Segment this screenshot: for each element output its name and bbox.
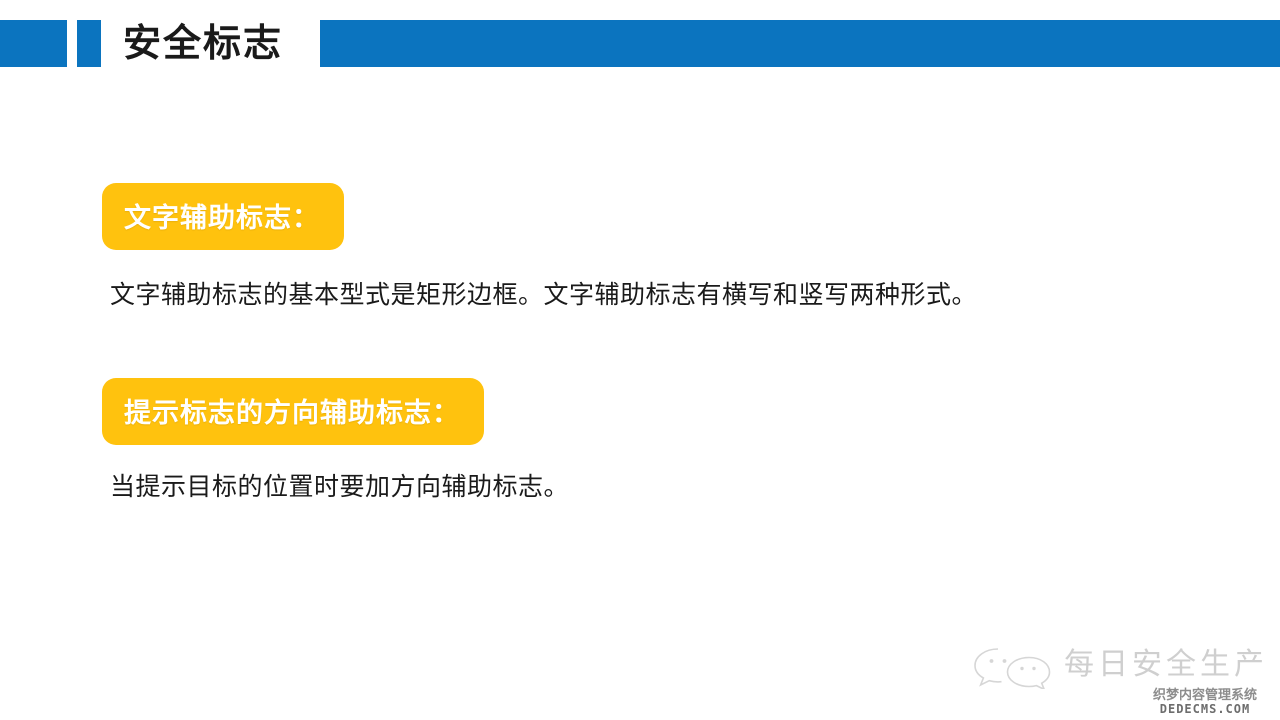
section-badge-2: 提示标志的方向辅助标志： bbox=[102, 378, 484, 445]
page-title: 安全标志 bbox=[123, 18, 283, 70]
wechat-icon bbox=[972, 645, 1058, 689]
watermark-account-name: 每日安全生产 bbox=[1064, 643, 1268, 687]
slide-content: 文字辅助标志： 文字辅助标志的基本型式是矩形边框。文字辅助标志有横写和竖写两种形… bbox=[0, 90, 1280, 620]
dedecms-watermark: 织梦内容管理系统 DEDECMS.COM bbox=[1140, 687, 1270, 716]
header-accent-bar bbox=[320, 20, 1280, 67]
footer-watermark: 每日安全生产 织梦内容管理系统 DEDECMS.COM bbox=[972, 643, 1272, 715]
section-body-2: 当提示目标的位置时要加方向辅助标志。 bbox=[110, 472, 569, 503]
slide-canvas: 安全标志 文字辅助标志： 文字辅助标志的基本型式是矩形边框。文字辅助标志有横写和… bbox=[0, 0, 1280, 720]
dedecms-watermark-en: DEDECMS.COM bbox=[1140, 702, 1270, 716]
section-badge-1: 文字辅助标志： bbox=[102, 183, 344, 250]
dedecms-watermark-cn: 织梦内容管理系统 bbox=[1140, 687, 1270, 702]
slide-header: 安全标志 bbox=[0, 0, 1280, 90]
header-accent-block-small bbox=[77, 20, 101, 67]
header-accent-block-large bbox=[0, 20, 67, 67]
section-body-1: 文字辅助标志的基本型式是矩形边框。文字辅助标志有横写和竖写两种形式。 bbox=[110, 280, 977, 311]
